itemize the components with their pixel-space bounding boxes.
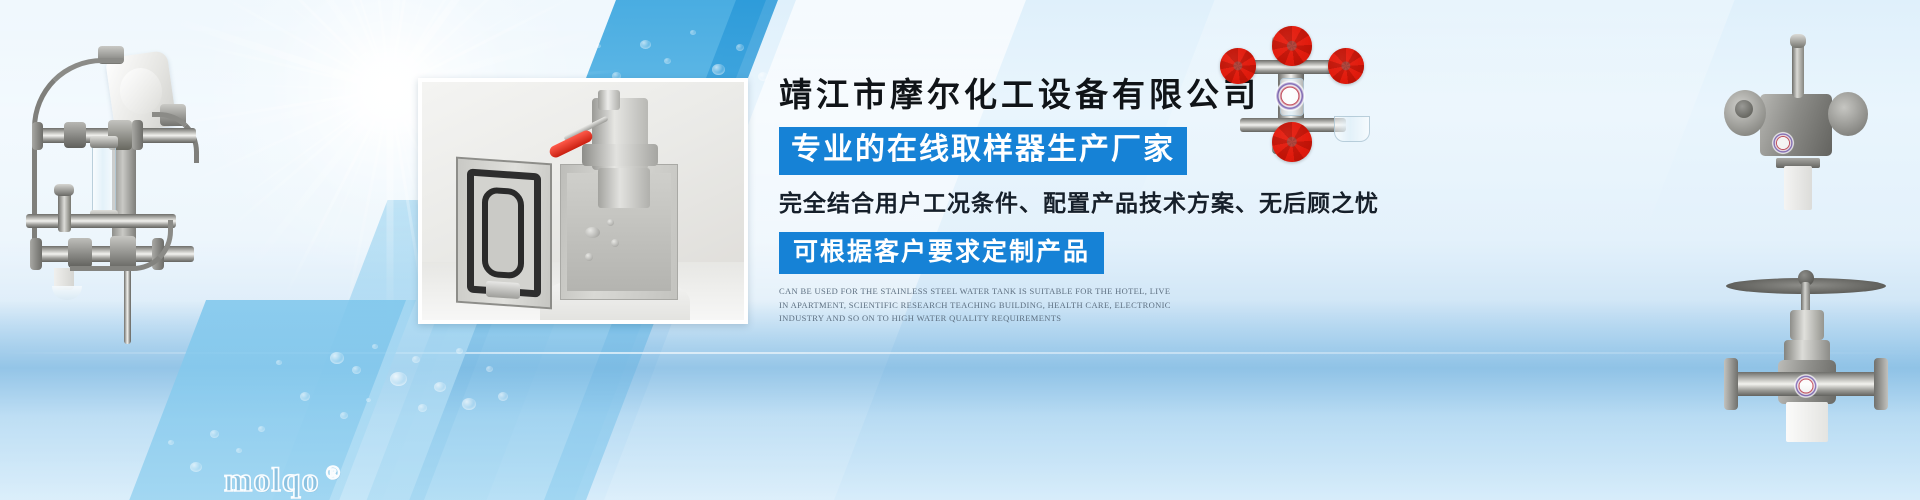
english-description: CAN BE USED FOR THE STAINLESS STEEL WATE… [779, 285, 1179, 326]
water-droplet-icon [462, 398, 476, 410]
registered-mark: ® [326, 463, 341, 484]
water-droplet-icon [412, 356, 420, 363]
water-droplet-icon [736, 44, 744, 51]
tagline-badge: 专业的在线取样器生产厂家 [779, 127, 1187, 175]
water-droplet-icon [168, 440, 174, 445]
water-droplet-icon [236, 448, 242, 453]
custom-product-badge: 可根据客户要求定制产品 [779, 232, 1104, 274]
water-droplet-icon [390, 372, 407, 386]
gate-valve-apparatus [1706, 252, 1920, 442]
watermark-logo: molqo® [224, 462, 341, 500]
cross-sampler-apparatus [1216, 34, 1372, 154]
water-droplet-icon [258, 426, 265, 432]
water-droplet-icon [596, 44, 601, 48]
water-droplet-icon [690, 30, 696, 35]
promo-banner: 靖江市摩尔化工设备有限公司 专业的在线取样器生产厂家 完全结合用户工况条件、配置… [0, 0, 1920, 500]
water-droplet-icon [352, 366, 361, 374]
water-droplet-icon [190, 462, 202, 472]
water-droplet-icon [758, 72, 768, 81]
water-droplet-icon [664, 58, 671, 64]
water-droplet-icon [498, 392, 508, 401]
flanged-valve-apparatus [1708, 20, 1878, 210]
water-droplet-icon [210, 430, 219, 438]
water-droplet-icon [340, 412, 348, 419]
water-droplet-icon [366, 398, 371, 402]
water-droplet-icon [300, 392, 310, 401]
water-droplet-icon [418, 404, 427, 412]
product-photo [418, 78, 748, 324]
water-droplet-icon [434, 382, 446, 392]
logo-text: molqo [224, 462, 320, 499]
water-surface-edge [0, 352, 1920, 354]
subline-text: 完全结合用户工况条件、配置产品技术方案、无后顾之忧 [779, 187, 1399, 219]
water-droplet-icon [712, 64, 725, 75]
water-droplet-icon [276, 360, 282, 365]
water-droplet-icon [456, 348, 463, 354]
water-droplet-icon [330, 352, 344, 364]
water-droplet-icon [372, 344, 378, 349]
sampler-apparatus-left [12, 24, 212, 324]
water-droplet-icon [640, 40, 651, 49]
water-droplet-icon [486, 366, 493, 372]
